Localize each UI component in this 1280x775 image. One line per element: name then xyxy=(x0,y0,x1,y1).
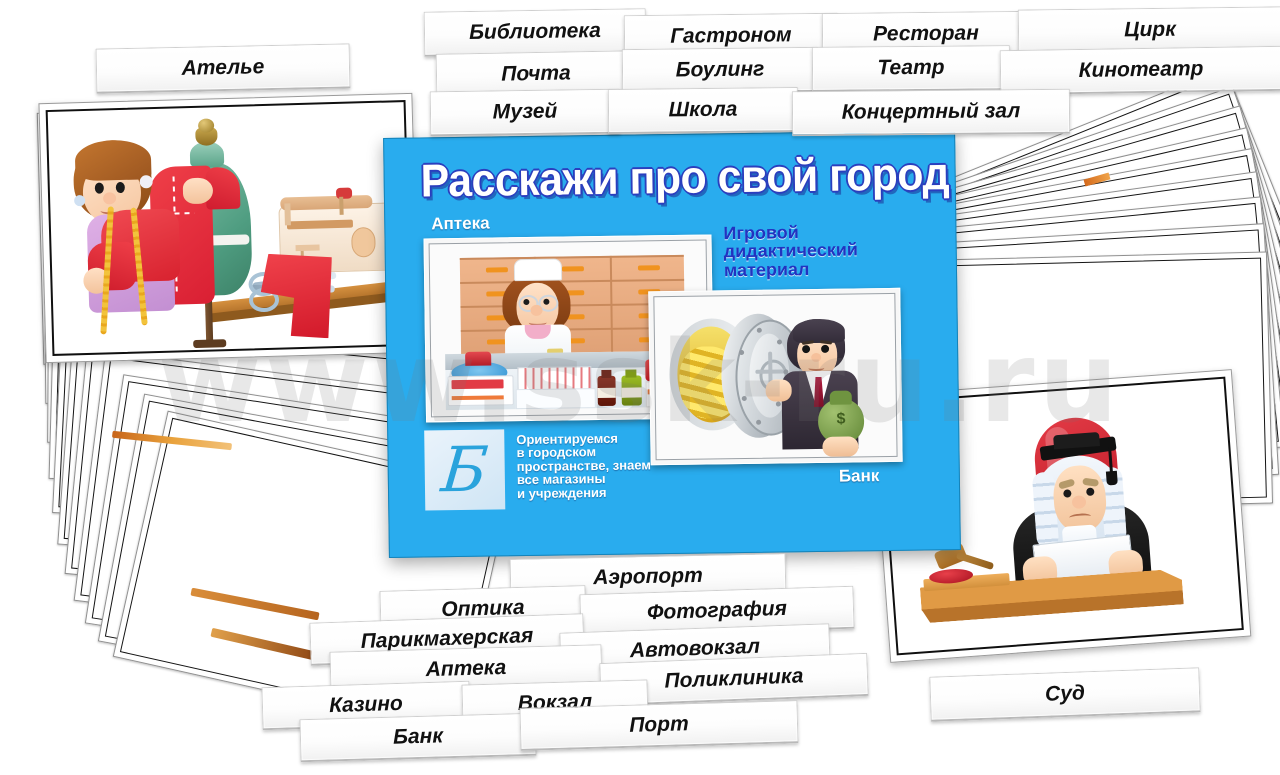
box-subtitle-line: материал xyxy=(724,259,858,279)
box-tagline-line: и учреждения xyxy=(517,485,651,500)
label-strip-text: Почта xyxy=(501,61,571,86)
label-strip-text: Ателье xyxy=(181,55,264,81)
publisher-logo: Ƃ xyxy=(424,429,505,510)
label-strip-court[interactable]: Суд xyxy=(929,667,1200,721)
label-strip-atelier[interactable]: Ателье xyxy=(96,43,351,93)
label-strip-text: Кинотеатр xyxy=(1078,57,1203,83)
label-strip-text: Театр xyxy=(877,56,944,81)
label-strip-text: Аптека xyxy=(425,656,506,682)
scene-root: Ателье xyxy=(0,0,1280,775)
label-strip-muzey[interactable]: Музей xyxy=(430,89,621,137)
label-strip-biblioteka[interactable]: Библиотека xyxy=(424,8,647,56)
label-strip-text: Аэропорт xyxy=(593,564,703,590)
game-box-cover[interactable]: Расскажи про свой город Аптека xyxy=(383,130,961,558)
box-subtitle-line: дидактический xyxy=(724,241,858,261)
label-strip-text: Банк xyxy=(393,724,444,749)
label-strip-text: Школа xyxy=(668,98,737,123)
label-strip-text: Концертный зал xyxy=(842,99,1021,125)
atelier-illustration xyxy=(46,100,413,356)
box-tagline: Ориентируемся в городском пространстве, … xyxy=(516,431,651,500)
label-strip-text: Суд xyxy=(1045,681,1086,706)
label-strip-kontsertnyy-zal[interactable]: Концертный зал xyxy=(792,89,1070,136)
label-strip-text: Ресторан xyxy=(873,21,979,46)
label-strip-kinoteatr[interactable]: Кинотеатр xyxy=(1000,46,1280,95)
label-strip-text: Гастроном xyxy=(670,23,792,48)
label-strip-port[interactable]: Порт xyxy=(519,700,798,751)
label-strip-teatr[interactable]: Театр xyxy=(812,45,1010,92)
label-strip-text: Поликлиника xyxy=(664,664,804,693)
label-strip-text: Казино xyxy=(329,692,403,718)
label-strip-text: Фотография xyxy=(647,597,788,625)
box-title: Расскажи про свой город xyxy=(420,146,949,207)
label-strip-shkola[interactable]: Школа xyxy=(608,87,798,134)
label-strip-text: Порт xyxy=(629,712,689,738)
box-subtitle: Игровой дидактический материал xyxy=(723,222,858,279)
logo-letter-b-icon: Ƃ xyxy=(439,439,490,502)
box-caption-bank: Банк xyxy=(839,466,880,487)
label-strip-text: Библиотека xyxy=(469,19,601,45)
box-caption-pharmacy: Аптека xyxy=(431,214,490,235)
picture-card-atelier[interactable] xyxy=(38,93,419,363)
label-strip-bank[interactable]: Банк xyxy=(299,713,536,763)
label-strip-text: Цирк xyxy=(1124,18,1176,43)
bank-photo: $ xyxy=(648,288,902,466)
bank-photo-inner: $ xyxy=(653,293,897,460)
label-strip-text: Боулинг xyxy=(676,57,765,82)
label-strip-text: Музей xyxy=(493,100,558,125)
